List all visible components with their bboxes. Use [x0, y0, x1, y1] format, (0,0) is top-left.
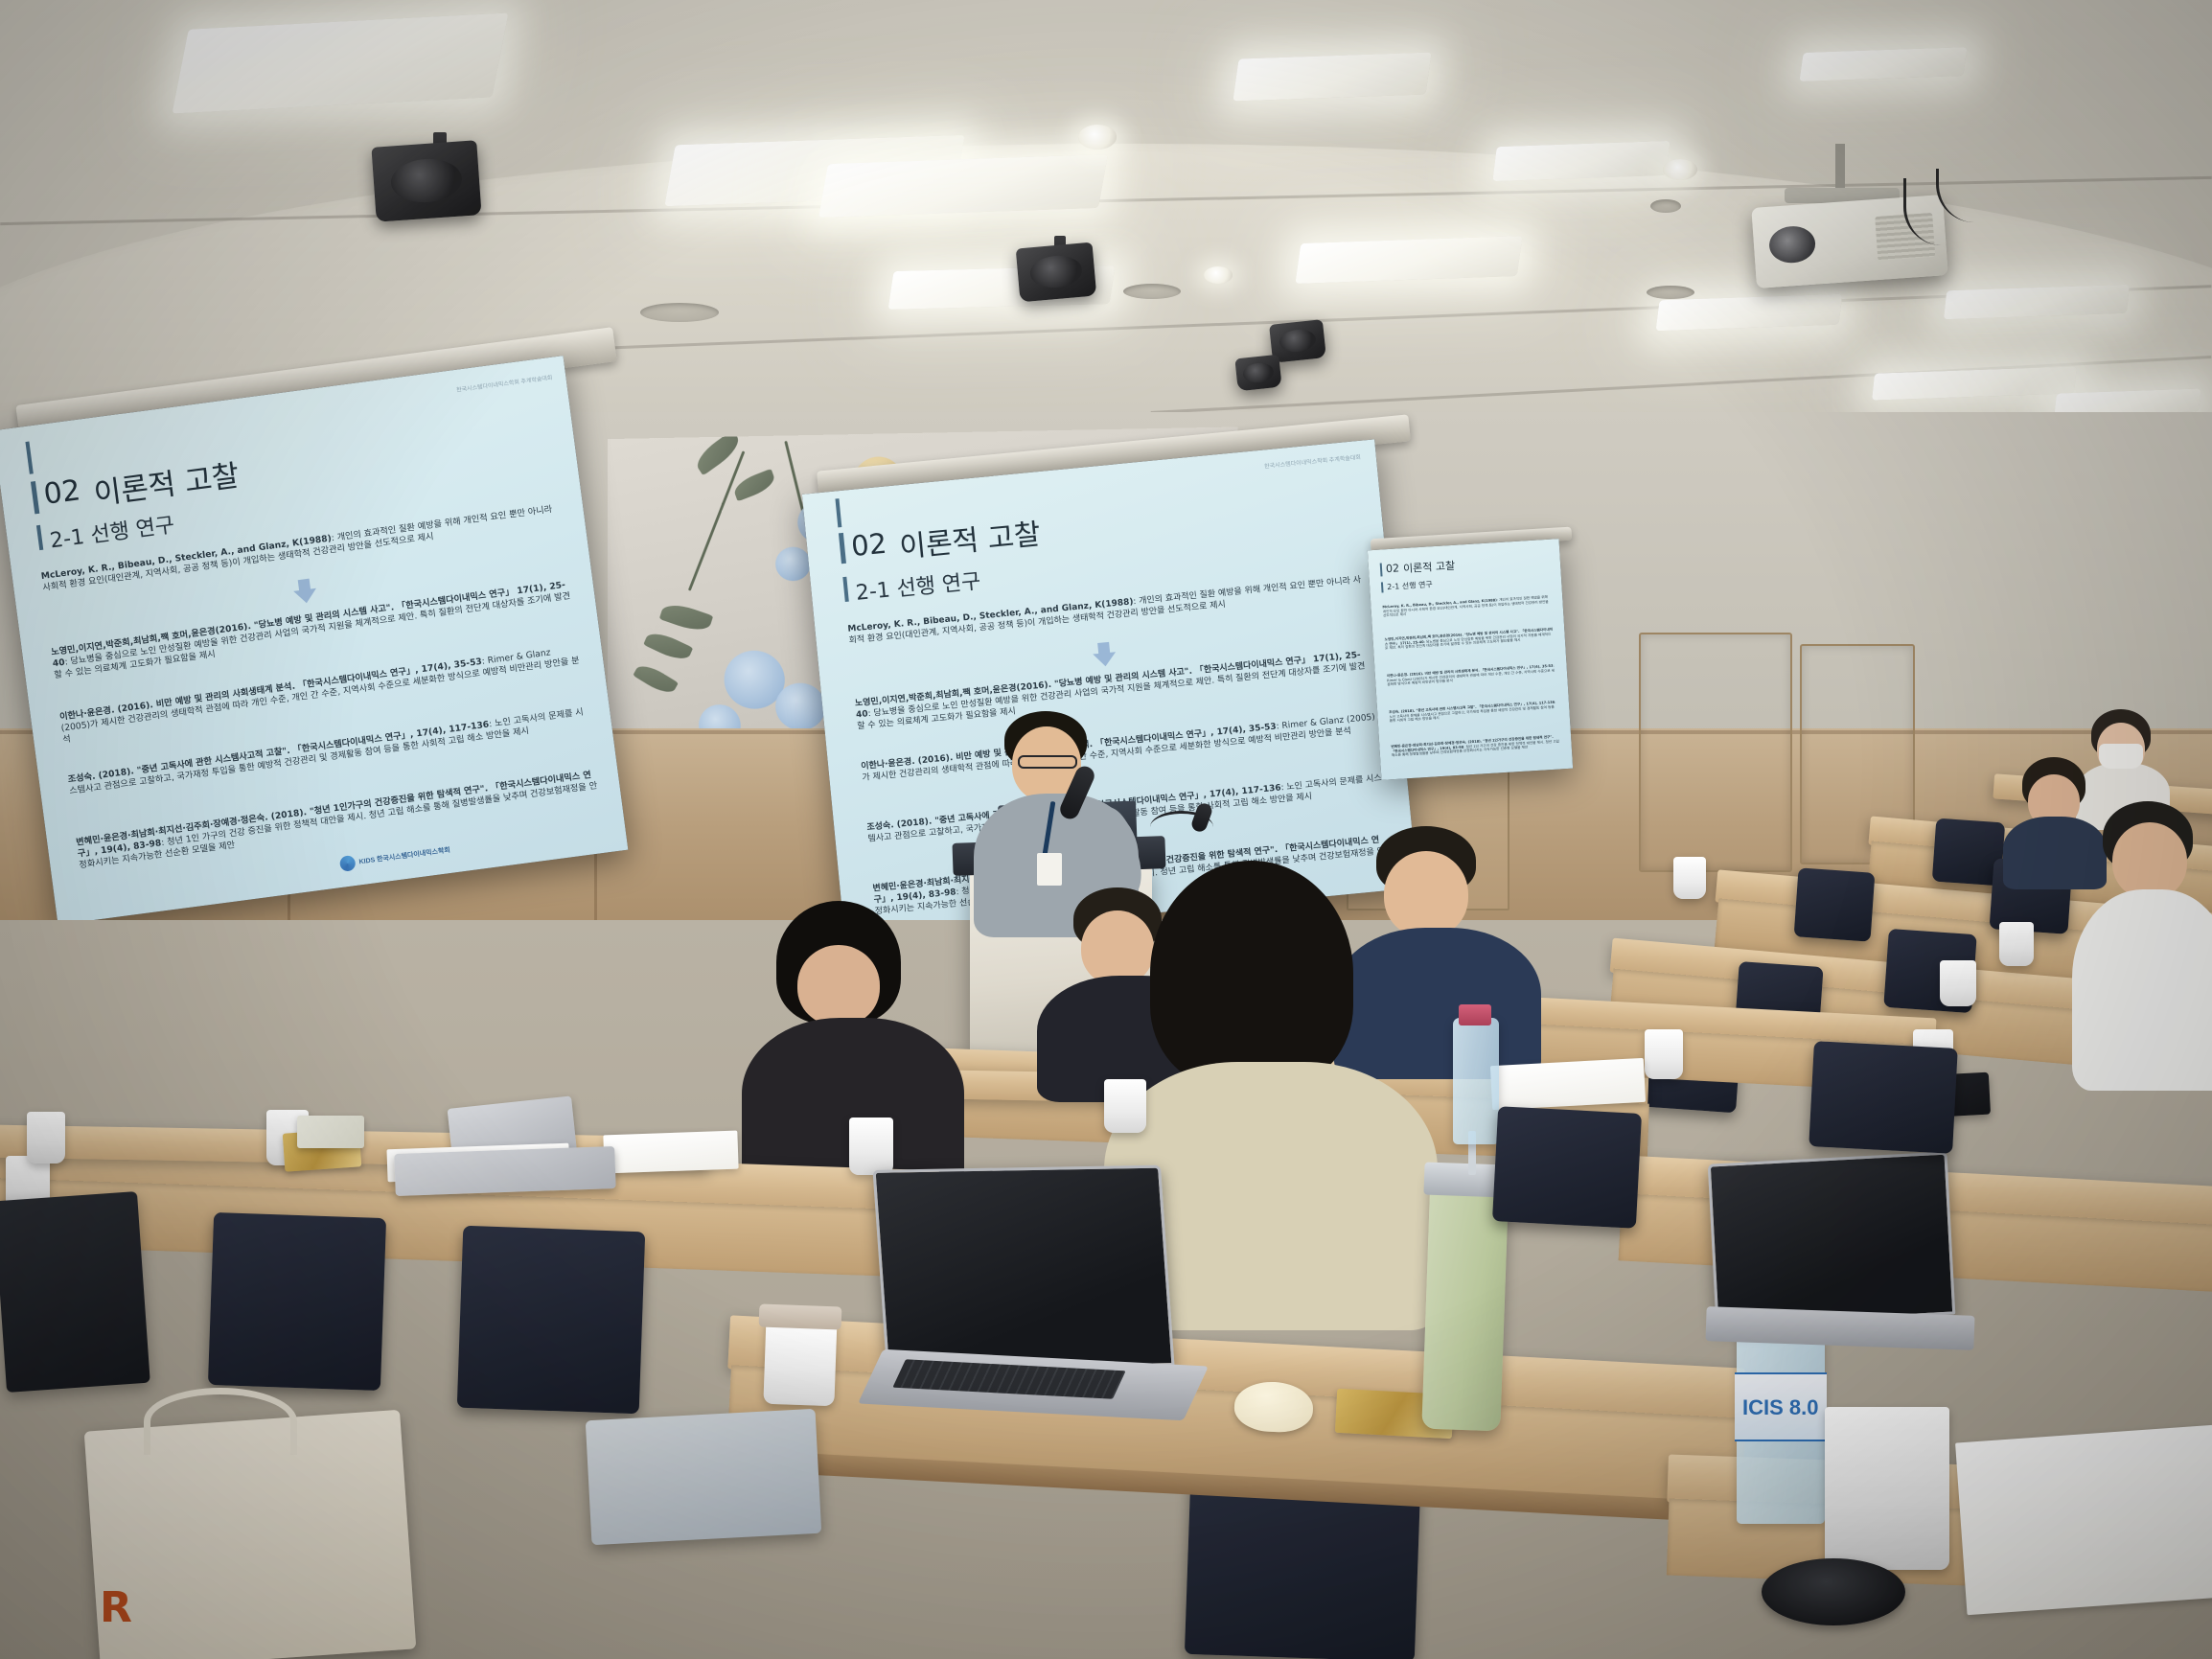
- ceiling-light-panel: [818, 154, 1108, 218]
- cup-lid[interactable]: [759, 1304, 842, 1330]
- attendee-5: [2078, 801, 2212, 1089]
- slide-section-number: 02: [850, 527, 888, 563]
- slide-section-title: 이론적 고찰: [91, 450, 242, 513]
- slide-watermark: 한국시스템다이내믹스학회 추계학술대회: [1264, 452, 1361, 471]
- slide-accent-tick: [31, 481, 39, 514]
- paper-cup[interactable]: [1825, 1407, 1949, 1570]
- projection-screen-left: 02 이론적 고찰 2-1 선행 연구 한국시스템다이내믹스학회 추계학술대회 …: [0, 356, 628, 925]
- slide-accent-tick: [839, 533, 846, 564]
- slide-paragraph-5: 변혜민·윤은경·최남희·최지선·김주희·장예경·정은숙. (2018). "청년…: [1391, 734, 1560, 758]
- slide-down-arrow-head: [1093, 652, 1117, 667]
- chair[interactable]: [208, 1212, 386, 1391]
- mural-leaf: [659, 600, 714, 635]
- ceiling-air-vent: [640, 303, 719, 322]
- paper-cup[interactable]: [1104, 1079, 1146, 1133]
- ceiling-light-panel: [1492, 141, 1670, 181]
- second-laptop-screen[interactable]: [1708, 1152, 1956, 1327]
- mural-leaf: [731, 469, 777, 501]
- ashtray[interactable]: [1762, 1558, 1905, 1625]
- laptop-screen[interactable]: [872, 1165, 1174, 1371]
- projection-screen-right: 02 이론적 고찰 2-1 선행 연구 McLeroy, K. R., Bibe…: [1368, 539, 1573, 780]
- paper-cup[interactable]: [1673, 857, 1706, 899]
- tote-bag-label: R: [100, 1583, 132, 1632]
- ceiling-light-panel: [1656, 294, 1843, 332]
- ceiling-light-panel: [172, 12, 508, 113]
- logo-text: KIDS 한국시스템다이내믹스학회: [358, 845, 450, 866]
- ceiling-downlight: [1078, 125, 1117, 150]
- folded-jacket[interactable]: [586, 1409, 821, 1545]
- slide-watermark: 한국시스템다이내믹스학회 추계학술대회: [456, 373, 553, 394]
- bottle-label-text: ICIS 8.0: [1742, 1395, 1818, 1420]
- slide-section-number: 02: [42, 473, 82, 512]
- tote-bag-strap: [144, 1388, 297, 1455]
- slide-section-title: 이론적 고찰: [1403, 558, 1456, 576]
- smoke-detector: [1650, 199, 1681, 213]
- head: [2112, 822, 2187, 899]
- mural-flower-blue: [775, 547, 811, 582]
- chair[interactable]: [1492, 1106, 1642, 1229]
- ceiling-light-panel: [1295, 236, 1522, 284]
- paper-cup[interactable]: [1645, 1029, 1683, 1079]
- ceiling-downlight: [1663, 159, 1697, 180]
- mural-leaf: [633, 660, 679, 699]
- ceiling-light-panel: [1233, 53, 1431, 102]
- ceiling-air-vent: [1647, 286, 1694, 299]
- bottle-cap[interactable]: [1459, 1004, 1491, 1025]
- slide-down-arrow-head: [293, 588, 318, 605]
- hair: [1150, 861, 1353, 1087]
- name-badge: [1037, 853, 1062, 886]
- lecture-hall-photo: 지속ㄱ 02 이론적 고찰 2-1 선행 연구 한국시스템다이내믹스학회 추계학…: [0, 0, 2212, 1659]
- slide-left: 02 이론적 고찰 2-1 선행 연구 한국시스템다이내믹스학회 추계학술대회 …: [0, 356, 628, 925]
- eyeglasses-icon: [1018, 755, 1077, 769]
- slide-subsection: 2-1 선행 연구: [48, 508, 176, 555]
- ceiling-air-vent: [1123, 284, 1181, 299]
- paper-cup[interactable]: [1940, 960, 1976, 1006]
- slide-accent-tick: [835, 498, 841, 527]
- document-sheet[interactable]: [1490, 1058, 1646, 1110]
- tissue-box[interactable]: [297, 1116, 364, 1148]
- document-stack[interactable]: [603, 1131, 738, 1174]
- slide-society-logo: KIDS 한국시스템다이내믹스학회: [339, 842, 451, 872]
- document-sheet[interactable]: [1955, 1425, 2212, 1615]
- slide-paragraph-2: 노영민,이지연,박준희,최남희,짹 호머,윤은경(2016). "당뇨병 예방 …: [1384, 628, 1554, 652]
- head: [797, 945, 880, 1025]
- slide-paragraph-4: 조성숙. (2018). "중년 고독사에 관한 시스템사고적 고찰". 「한국…: [1389, 701, 1558, 725]
- ceiling-downlight: [1204, 266, 1233, 284]
- chair[interactable]: [1809, 1041, 1958, 1154]
- paper-cup[interactable]: [1999, 922, 2034, 966]
- slide-accent-tick: [1381, 582, 1384, 592]
- ceiling-speaker: [371, 140, 481, 221]
- chair[interactable]: [1794, 867, 1876, 941]
- mural-flower-blue: [775, 682, 825, 730]
- mural-stem: [688, 450, 745, 590]
- slide-section-number: 02: [1386, 562, 1400, 575]
- ceiling-light-panel: [1799, 47, 1967, 81]
- slide-paragraph-3: 이한나·윤은경. (2016). 비만 예방 및 관리의 사회생태계 분석. 「…: [1387, 664, 1556, 688]
- chair[interactable]: [457, 1226, 646, 1415]
- slide-accent-tick: [25, 442, 33, 474]
- slide-accent-tick: [1380, 563, 1383, 576]
- slide-paragraph-1: McLeroy, K. R., Bibeau, D., Steckler, A.…: [1382, 595, 1552, 619]
- torso: [2072, 889, 2212, 1091]
- slide-section-title: 이론적 고찰: [897, 510, 1042, 565]
- slide-subsection: 2-1 선행 연구: [1387, 579, 1433, 592]
- water-bottle[interactable]: [1453, 1018, 1499, 1144]
- wall-louver-vent: [1639, 633, 1792, 872]
- slide-subsection: 2-1 선행 연구: [854, 564, 981, 606]
- logo-mark-icon: [339, 855, 357, 872]
- ceiling-speaker: [1016, 242, 1097, 303]
- paper-cup[interactable]: [27, 1112, 65, 1164]
- slide-accent-tick: [36, 525, 43, 550]
- slide-right: 02 이론적 고찰 2-1 선행 연구 McLeroy, K. R., Bibe…: [1368, 539, 1573, 780]
- slide-accent-tick: [842, 577, 848, 602]
- backpack[interactable]: [0, 1191, 150, 1393]
- laptop-closed[interactable]: [394, 1146, 615, 1196]
- ceiling-speaker: [1234, 355, 1281, 392]
- mural-leaf: [643, 628, 693, 665]
- paper-cup[interactable]: [849, 1118, 893, 1175]
- projector-lens: [1768, 224, 1817, 265]
